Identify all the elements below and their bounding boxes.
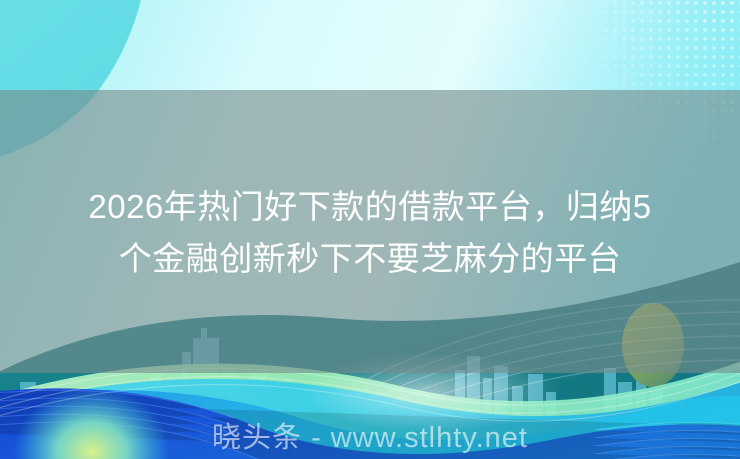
promo-banner: 2026年热门好下款的借款平台，归纳5 个金融创新秒下不要芝麻分的平台 晓头条 … bbox=[0, 0, 740, 459]
title-line-1: 2026年热门好下款的借款平台，归纳5 bbox=[26, 181, 714, 233]
banner-title: 2026年热门好下款的借款平台，归纳5 个金融创新秒下不要芝麻分的平台 bbox=[0, 181, 740, 285]
title-line-2: 个金融创新秒下不要芝麻分的平台 bbox=[26, 233, 714, 285]
